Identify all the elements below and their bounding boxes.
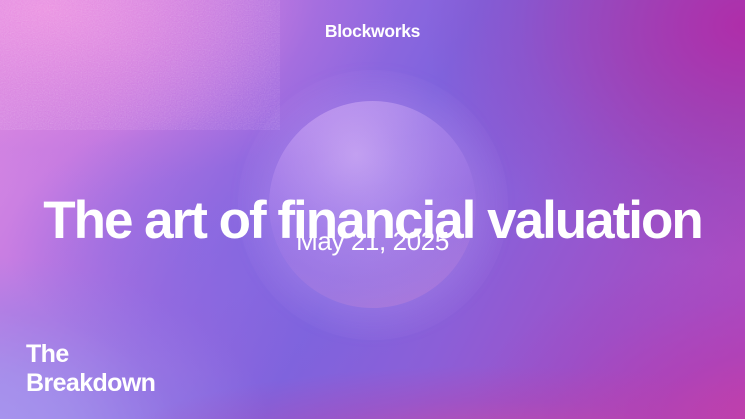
episode-date: May 21, 2025 [0,226,745,257]
film-grain-texture [0,0,280,130]
show-title-line-1: The [26,340,155,369]
episode-cover-card: Blockworks The art of financial valuatio… [0,0,745,419]
show-title: The Breakdown [26,340,155,398]
show-title-line-2: Breakdown [26,369,155,398]
blockworks-logo: Blockworks [0,21,745,42]
